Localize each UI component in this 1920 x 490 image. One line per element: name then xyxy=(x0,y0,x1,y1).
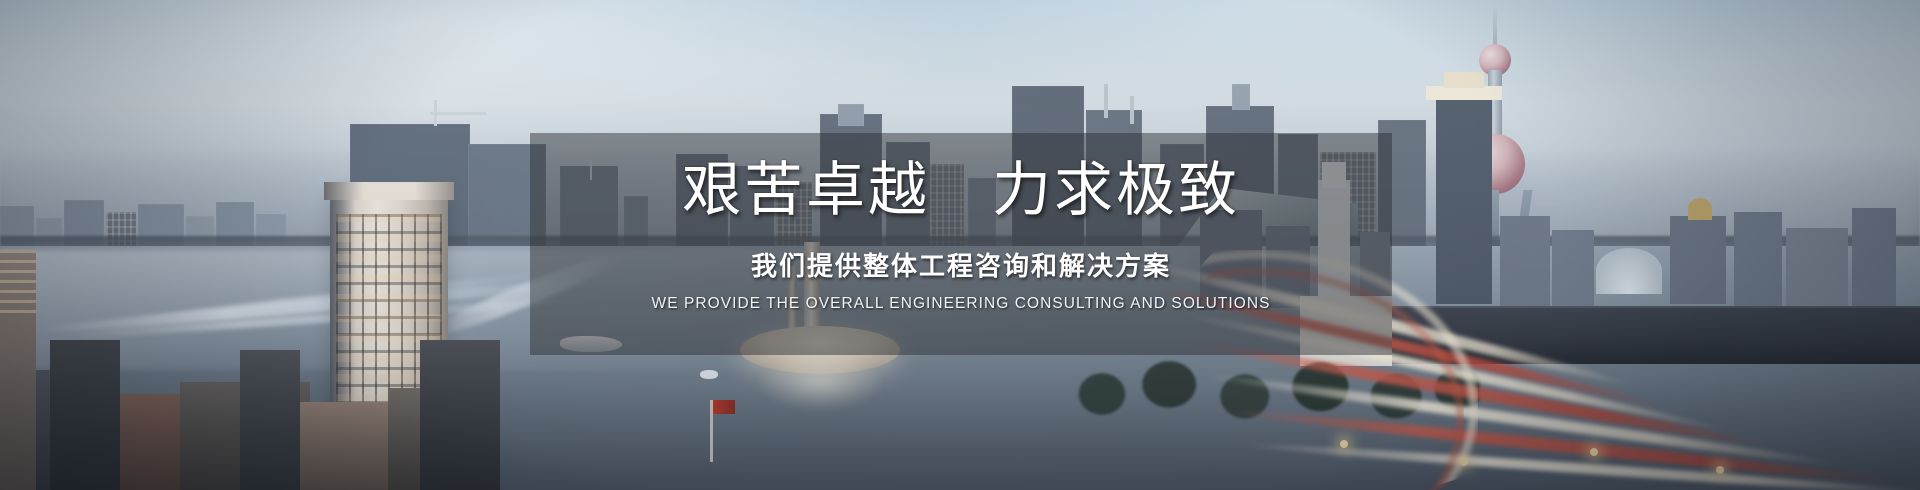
hero-text-panel: 艰苦卓越 力求极致 我们提供整体工程咨询和解决方案 WE PROVIDE THE… xyxy=(530,133,1392,355)
hero-tagline-english: WE PROVIDE THE OVERALL ENGINEERING CONSU… xyxy=(652,295,1271,313)
hero-banner: 艰苦卓越 力求极致 我们提供整体工程咨询和解决方案 WE PROVIDE THE… xyxy=(0,0,1920,490)
hero-headline: 艰苦卓越 力求极致 xyxy=(682,161,1240,220)
hero-subheadline: 我们提供整体工程咨询和解决方案 xyxy=(751,246,1171,283)
foreground-rooftops xyxy=(0,320,550,490)
flag xyxy=(713,400,735,414)
small-boat xyxy=(700,370,718,379)
left-edge-building-lights xyxy=(0,250,36,320)
